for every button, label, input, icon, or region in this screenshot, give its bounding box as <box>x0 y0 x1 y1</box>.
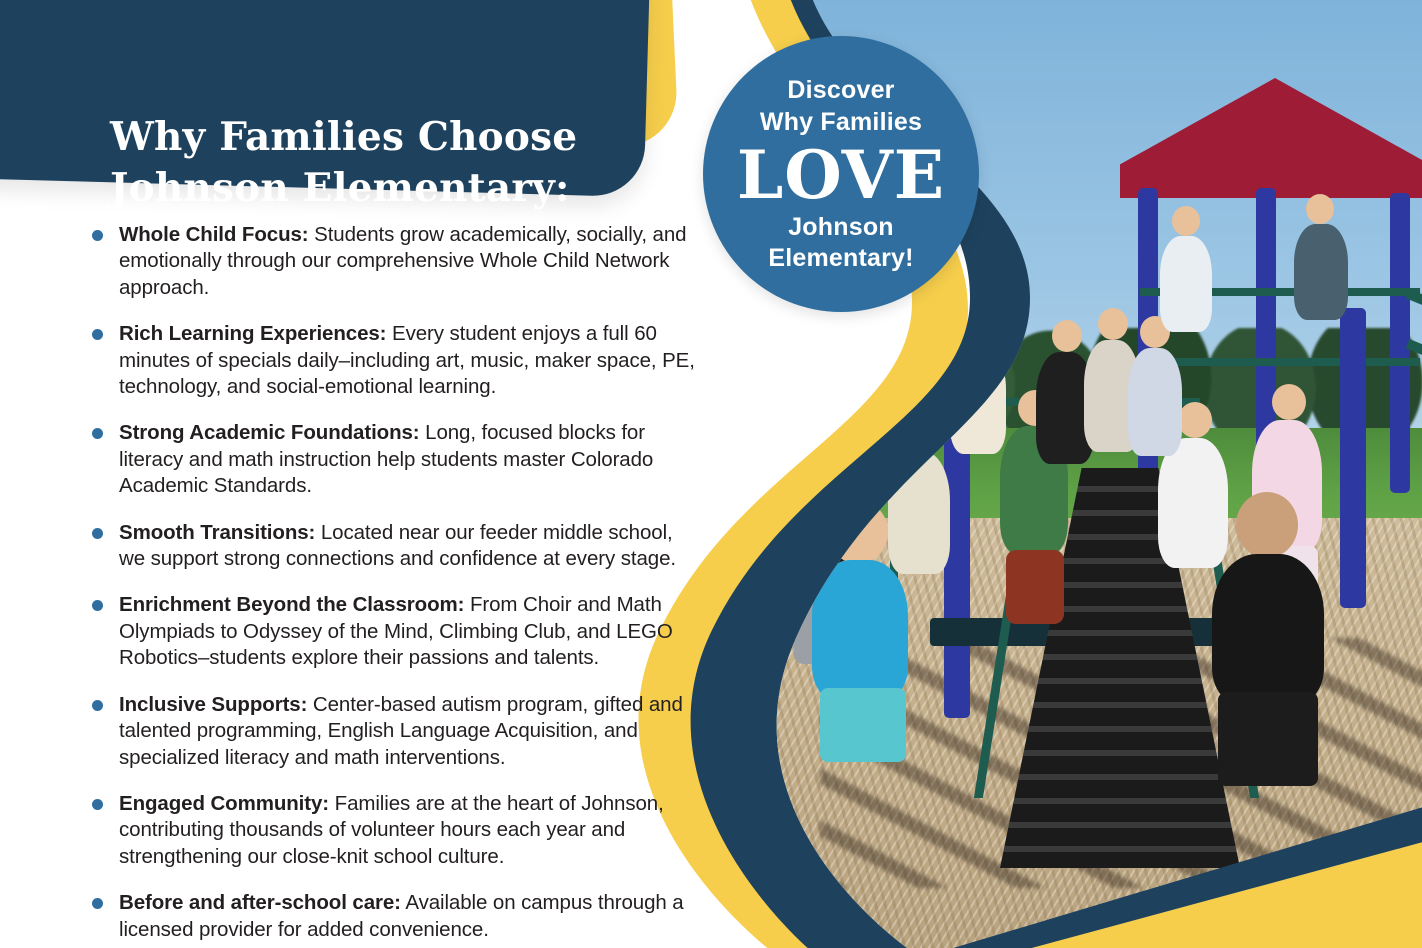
photo-tower-child <box>1172 206 1200 236</box>
photo-child <box>1158 438 1228 568</box>
list-item-label: Smooth Transitions: <box>119 521 315 544</box>
bullet-dot-icon <box>92 528 103 539</box>
badge-line-why-families: Why Families <box>760 106 922 138</box>
benefits-list: Whole Child Focus: Students grow academi… <box>88 222 698 943</box>
flyer-page: Why Families Choose Johnson Elementary: … <box>0 0 1422 948</box>
list-item-label: Strong Academic Foundations: <box>119 421 420 444</box>
discover-love-badge: Discover Why Families LOVE Johnson Eleme… <box>703 36 979 312</box>
photo-child <box>1052 320 1082 352</box>
photo-tower-child <box>1160 236 1212 332</box>
list-item: Engaged Community: Families are at the h… <box>88 791 698 870</box>
photo-structure-post <box>1340 308 1366 608</box>
bullet-dot-icon <box>92 230 103 241</box>
list-item: Enrichment Beyond the Classroom: From Ch… <box>88 592 698 671</box>
photo-foreground-girl <box>820 688 906 762</box>
photo-child <box>1272 384 1306 420</box>
photo-tower-child <box>1306 194 1334 224</box>
photo-canopy-roof <box>1120 78 1422 198</box>
photo-child <box>1098 308 1128 340</box>
badge-word-love: LOVE <box>737 140 945 210</box>
photo-foreground-boy <box>1236 492 1298 558</box>
photo-foreground-boy <box>1212 554 1324 704</box>
bullet-dot-icon <box>92 799 103 810</box>
bullet-dot-icon <box>92 700 103 711</box>
list-item-label: Engaged Community: <box>119 792 329 815</box>
list-item: Smooth Transitions: Located near our fee… <box>88 520 698 573</box>
photo-tower-child <box>1294 224 1348 320</box>
list-item-label: Enrichment Beyond the Classroom: <box>119 593 464 616</box>
list-item-label: Whole Child Focus: <box>119 223 309 246</box>
page-title: Why Families Choose Johnson Elementary: <box>110 112 670 214</box>
list-item: Rich Learning Experiences: Every student… <box>88 321 698 400</box>
badge-line-elementary: Elementary! <box>768 243 913 274</box>
photo-child <box>1178 402 1212 438</box>
list-item: Whole Child Focus: Students grow academi… <box>88 222 698 301</box>
list-item-label: Before and after-school care: <box>119 891 401 914</box>
photo-child <box>1128 348 1182 456</box>
photo-tower-railing <box>1140 358 1420 366</box>
list-item: Before and after-school care: Available … <box>88 890 698 943</box>
photo-foreground-boy <box>1218 692 1318 786</box>
badge-line-discover: Discover <box>787 74 894 106</box>
bullet-dot-icon <box>92 428 103 439</box>
bullet-dot-icon <box>92 898 103 909</box>
photo-foreground-girl <box>812 560 908 700</box>
badge-line-johnson: Johnson <box>788 212 894 243</box>
list-item: Inclusive Supports: Center-based autism … <box>88 692 698 771</box>
list-item-label: Inclusive Supports: <box>119 693 307 716</box>
photo-child <box>1006 550 1064 624</box>
bullet-dot-icon <box>92 329 103 340</box>
list-item: Strong Academic Foundations: Long, focus… <box>88 420 698 499</box>
bullet-dot-icon <box>92 600 103 611</box>
list-item-label: Rich Learning Experiences: <box>119 322 386 345</box>
